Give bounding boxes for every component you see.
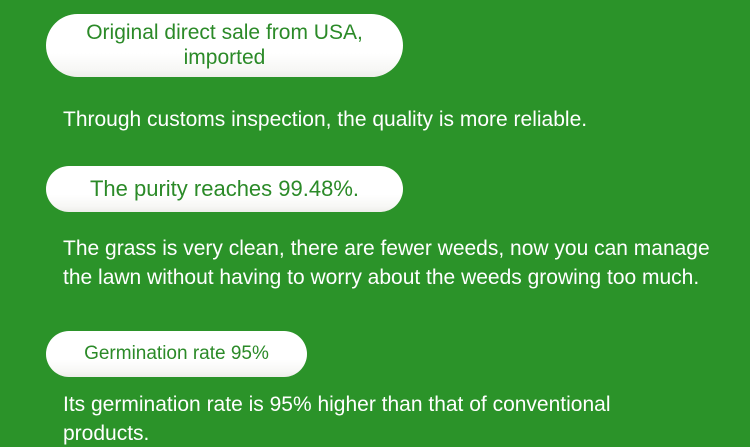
body-text-customs: Through customs inspection, the quality … xyxy=(63,105,723,134)
badge-origin: Original direct sale from USA, imported xyxy=(46,14,403,77)
badge-purity: The purity reaches 99.48%. xyxy=(46,166,403,212)
body-text-weeds: The grass is very clean, there are fewer… xyxy=(63,234,723,292)
badge-germination-rate: Germination rate 95% xyxy=(46,331,307,377)
body-text-germination: Its germination rate is 95% higher than … xyxy=(63,390,623,447)
promo-banner: Original direct sale from USA, imported … xyxy=(0,0,750,447)
